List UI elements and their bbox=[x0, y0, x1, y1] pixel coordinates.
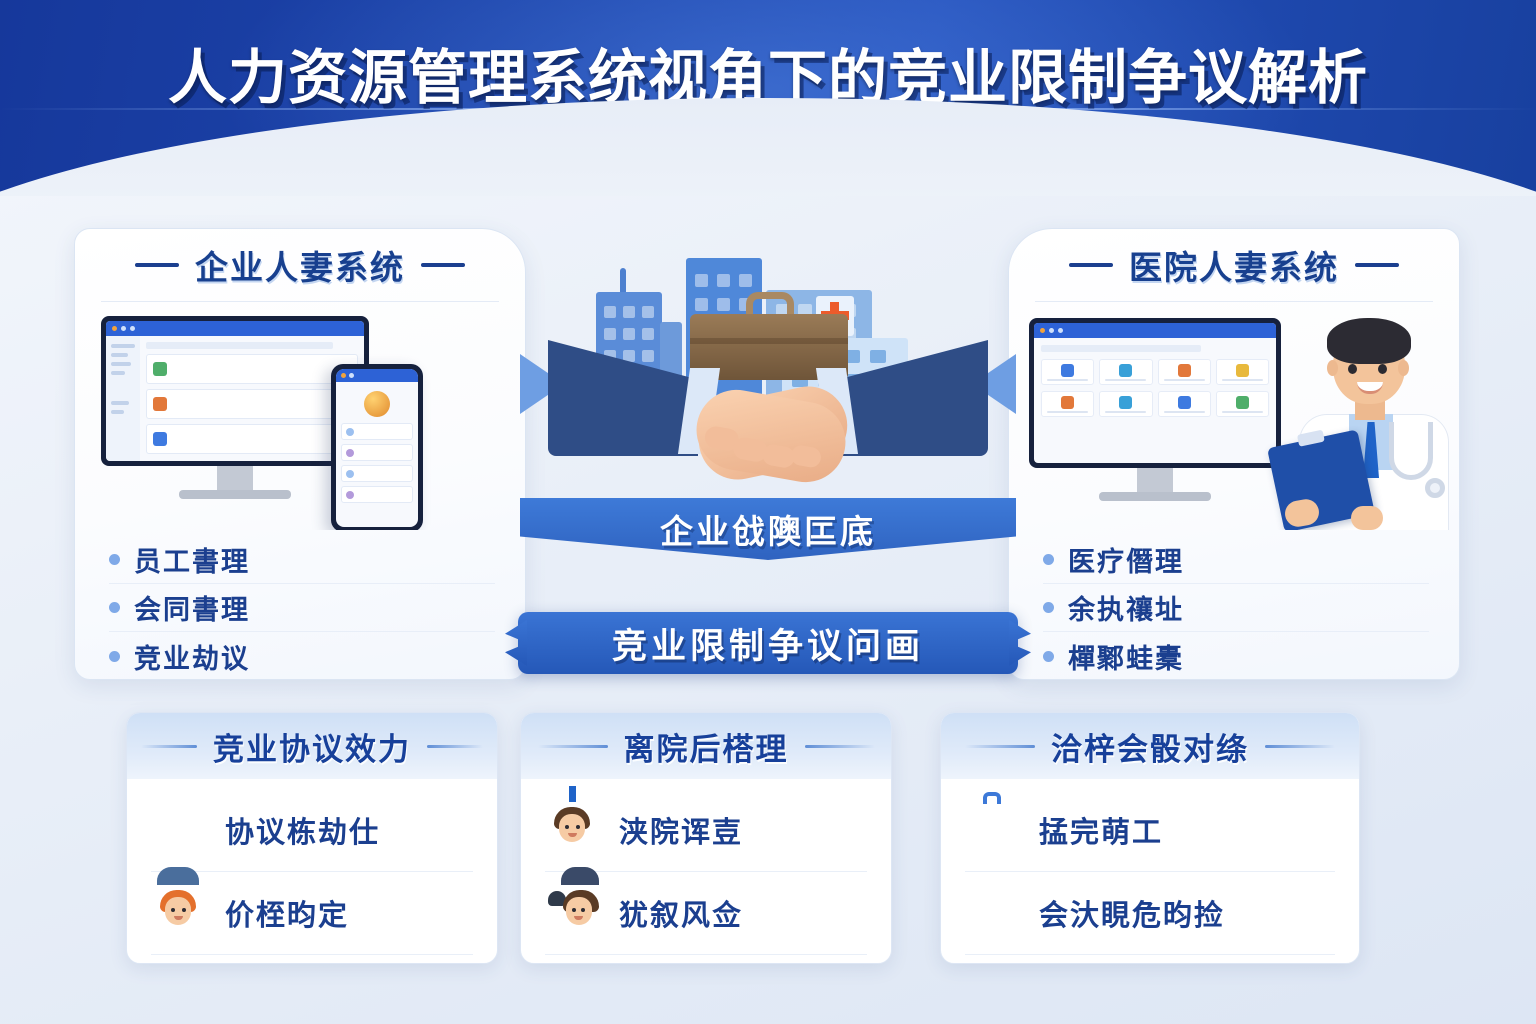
center-label-text: 企业戗隩匞底 bbox=[660, 505, 876, 553]
page-title: 人力资源管理系统视角下的竞业限制争议解析 bbox=[0, 30, 1536, 115]
doctor-avatar-icon bbox=[545, 802, 601, 858]
tower-spire-icon bbox=[620, 268, 626, 292]
bullet-dot-icon bbox=[1043, 602, 1054, 613]
card-item-label: 掹完萌工 bbox=[1039, 809, 1163, 851]
bullet-label: 会同書理 bbox=[134, 588, 250, 627]
desktop-monitor-icon bbox=[101, 316, 369, 499]
list-item: 掹完萌工 bbox=[965, 789, 1335, 872]
card-item-label: 浃院诨壴 bbox=[619, 809, 743, 851]
list-item: 余执禳址 bbox=[1043, 584, 1429, 632]
enterprise-hr-panel: 企业人妻系统 bbox=[74, 228, 526, 680]
bullet-dot-icon bbox=[109, 602, 120, 613]
card-item-label: 犹叙风佥 bbox=[619, 892, 743, 934]
monitor-base bbox=[1099, 492, 1211, 501]
header-dash-right bbox=[421, 263, 465, 267]
hospital-bullet-list: 医疗僭理 余执禳址 樿鄹蛙橐 bbox=[1009, 530, 1459, 680]
bullet-dot-icon bbox=[109, 554, 120, 565]
card-dash-right bbox=[805, 745, 875, 748]
header-dash-left bbox=[135, 263, 179, 267]
shield-lock-icon bbox=[965, 885, 1021, 941]
list-item: 价桎昀定 bbox=[151, 872, 473, 955]
enterprise-illustration bbox=[75, 302, 525, 530]
infographic-canvas: 人力资源管理系统视角下的竞业限制争议解析 企业谎楼人妻系统与画限人妻系党如行觥刨… bbox=[0, 0, 1536, 1024]
card-header: 洽梓会骰对绦 bbox=[941, 713, 1359, 779]
bullet-label: 医疗僭理 bbox=[1068, 540, 1184, 579]
list-item: 竞业劫议 bbox=[109, 632, 495, 680]
card-title: 洽梓会骰对绦 bbox=[1051, 724, 1249, 769]
hospital-illustration bbox=[1009, 302, 1459, 530]
bullet-label: 竞业劫议 bbox=[134, 637, 250, 676]
list-item: 员工書理 bbox=[109, 536, 495, 584]
bullet-dot-icon bbox=[1043, 651, 1054, 662]
doctor-figure-icon bbox=[1293, 318, 1453, 530]
card-noncompete-validity: 竞业协议效力 协议栋劫仕 价桎昀定 bbox=[126, 712, 498, 964]
enterprise-panel-title: 企业人妻系统 bbox=[195, 241, 405, 289]
subtitle-rule-right bbox=[1176, 146, 1240, 149]
bullet-label: 余执禳址 bbox=[1068, 588, 1184, 627]
card-header: 离院后榙理 bbox=[521, 713, 891, 779]
card-title: 离院后榙理 bbox=[624, 724, 789, 769]
header-dash-left bbox=[1069, 263, 1113, 267]
center-handshake-illustration bbox=[520, 228, 1016, 528]
bullet-label: 员工書理 bbox=[134, 540, 250, 579]
bullet-dot-icon bbox=[109, 651, 120, 662]
hospital-hr-panel: 医院人妻系统 bbox=[1008, 228, 1460, 680]
person-avatar-icon bbox=[151, 885, 207, 941]
dispute-ribbon-banner: 竞业限制争议问画 bbox=[518, 612, 1018, 674]
card-title: 竞业协议效力 bbox=[213, 724, 411, 769]
card-item-label: 会汏睍危昀捡 bbox=[1039, 892, 1225, 934]
card-header: 竞业协议效力 bbox=[127, 713, 497, 779]
monitor-stand bbox=[1137, 468, 1173, 492]
two-doctors-avatar-icon bbox=[545, 885, 601, 941]
card-dash-left bbox=[538, 745, 608, 748]
desktop-monitor-icon bbox=[1029, 318, 1281, 501]
card-dash-left bbox=[965, 745, 1035, 748]
shield-icon bbox=[151, 802, 207, 858]
bullet-dot-icon bbox=[1043, 554, 1054, 565]
hospital-panel-title: 医院人妻系统 bbox=[1129, 241, 1339, 289]
medical-kit-icon bbox=[965, 802, 1021, 858]
card-item-label: 协议栋劫仕 bbox=[225, 809, 380, 851]
list-item: 樿鄹蛙橐 bbox=[1043, 632, 1429, 680]
list-item: 浃院诨壴 bbox=[545, 789, 867, 872]
dashboard-sidebar bbox=[106, 336, 140, 461]
list-item: 会汏睍危昀捡 bbox=[965, 872, 1335, 955]
card-dash-left bbox=[141, 745, 197, 748]
phone-badge-icon bbox=[364, 391, 390, 417]
monitor-screen bbox=[101, 316, 369, 466]
card-dash-right bbox=[1265, 745, 1335, 748]
bullet-label: 樿鄹蛙橐 bbox=[1068, 637, 1184, 676]
list-item: 协议栋劫仕 bbox=[151, 789, 473, 872]
list-item: 医疗僭理 bbox=[1043, 536, 1429, 584]
card-compliance-response: 洽梓会骰对绦 掹完萌工 会汏睍危昀捡 bbox=[940, 712, 1360, 964]
card-post-employment: 离院后榙理 浃院诨壴 bbox=[520, 712, 892, 964]
header-dash-right bbox=[1355, 263, 1399, 267]
hospital-panel-header: 医院人妻系统 bbox=[1009, 229, 1459, 301]
list-item: 会同書理 bbox=[109, 584, 495, 632]
header-banner: 人力资源管理系统视角下的竞业限制争议解析 企业谎楼人妻系统与画限人妻系党如行觥刨… bbox=[0, 0, 1536, 196]
subtitle-rule-left bbox=[296, 146, 360, 149]
monitor-screen bbox=[1029, 318, 1281, 468]
monitor-stand bbox=[217, 466, 253, 490]
monitor-base bbox=[179, 490, 291, 499]
ribbon-text: 竞业限制争议问画 bbox=[612, 618, 924, 669]
enterprise-bullet-list: 员工書理 会同書理 竞业劫议 bbox=[75, 530, 525, 680]
browser-titlebar bbox=[106, 321, 364, 336]
card-item-label: 价桎昀定 bbox=[225, 892, 349, 934]
subtitle-row: 企业谎楼人妻系统与画限人妻系党如行觥刨收阎信闬工替堵 bbox=[0, 127, 1536, 167]
page-subtitle: 企业谎楼人妻系统与画限人妻系党如行觥刨收阎信闬工替堵 bbox=[378, 127, 1158, 167]
list-item: 犹叙风佥 bbox=[545, 872, 867, 955]
enterprise-panel-header: 企业人妻系统 bbox=[75, 229, 525, 301]
mobile-phone-icon bbox=[331, 364, 423, 530]
center-strategy-label: 企业戗隩匞底 bbox=[520, 498, 1016, 560]
card-dash-right bbox=[427, 745, 483, 748]
